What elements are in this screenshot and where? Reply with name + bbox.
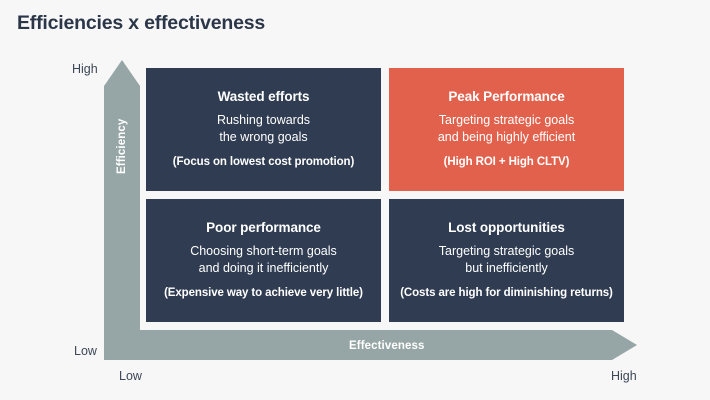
- quadrant-description-line-2: the wrong goals: [219, 129, 307, 146]
- quadrant-title: Lost opportunities: [448, 220, 565, 237]
- x-axis-high-label: High: [611, 369, 637, 383]
- quadrant-note: (Expensive way to achieve very little): [164, 286, 363, 301]
- quadrant-description-line-1: Targeting strategic goals: [439, 112, 575, 129]
- y-axis-title: Efficiency: [116, 138, 128, 174]
- quadrant-description-line-1: Choosing short-term goals: [190, 243, 337, 260]
- quadrant-title: Peak Performance: [448, 89, 564, 106]
- x-axis-title: Effectiveness: [349, 340, 424, 352]
- quadrant-description-line-2: and being highly efficient: [438, 129, 575, 146]
- quadrant-description-line-1: Targeting strategic goals: [439, 243, 575, 260]
- slide-canvas: Efficiencies x effectiveness Efficiency …: [0, 0, 710, 400]
- x-axis-low-label: Low: [119, 369, 142, 383]
- arrow-up-icon: [104, 60, 140, 337]
- quadrant-wasted-efforts[interactable]: Wasted efforts Rushing towards the wrong…: [146, 68, 381, 191]
- quadrant-note: (High ROI + High CLTV): [444, 155, 570, 170]
- quadrant-description-line-1: Rushing towards: [217, 112, 310, 129]
- quadrant-description-line-2: and doing it inefficiently: [199, 260, 329, 277]
- quadrant-note: (Focus on lowest cost promotion): [173, 155, 354, 170]
- quadrant-title: Wasted efforts: [218, 89, 310, 106]
- quadrant-lost-opportunities[interactable]: Lost opportunities Targeting strategic g…: [389, 199, 624, 322]
- quadrant-note: (Costs are high for diminishing returns): [400, 286, 613, 301]
- quadrant-poor-performance[interactable]: Poor performance Choosing short-term goa…: [146, 199, 381, 322]
- quadrant-description-line-2: but inefficiently: [465, 260, 547, 277]
- quadrant-peak-performance[interactable]: Peak Performance Targeting strategic goa…: [389, 68, 624, 191]
- quadrant-matrix: Wasted efforts Rushing towards the wrong…: [146, 68, 624, 322]
- y-axis-low-label: Low: [74, 344, 97, 358]
- quadrant-title: Poor performance: [206, 220, 321, 237]
- page-title: Efficiencies x effectiveness: [17, 12, 265, 35]
- y-axis-high-label: High: [72, 62, 98, 76]
